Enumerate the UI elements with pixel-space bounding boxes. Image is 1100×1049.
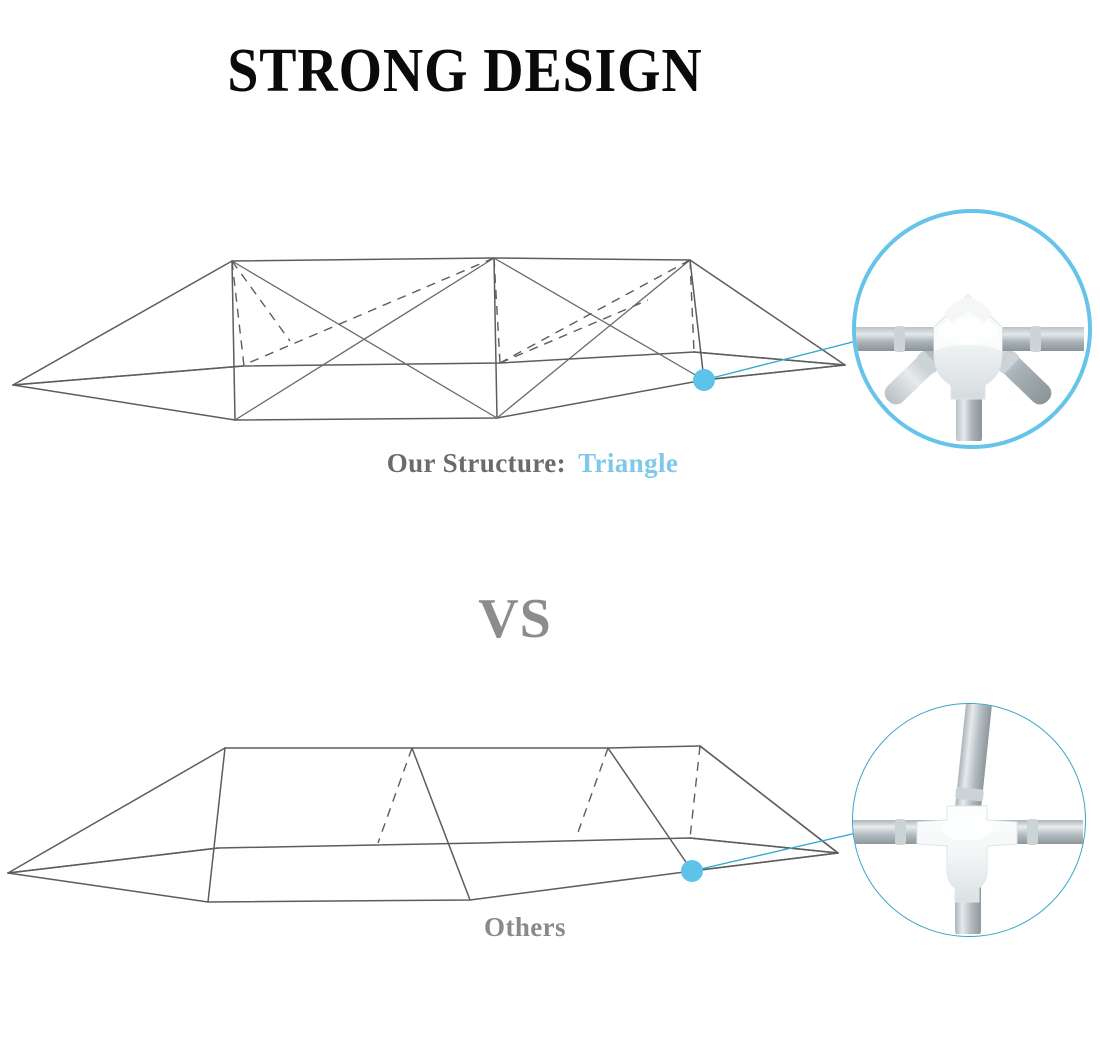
top-frame-brace-b2 (497, 260, 690, 418)
bottom-structure-caption: Others (0, 912, 1050, 943)
bottom-frame-hidden-leg-2 (378, 748, 412, 843)
top-frame-leg-1 (232, 261, 235, 420)
bottom-frame-leg-4 (700, 746, 838, 853)
page-title: STRONG DESIGN (47, 36, 884, 107)
bottom-frame-leg-3 (608, 748, 692, 871)
bottom-frame-leg-1 (208, 748, 225, 902)
top-structure-label: Our Structure: (387, 448, 566, 478)
top-frame-wireframe (13, 258, 845, 420)
top-frame-brace-a1 (232, 261, 497, 418)
bottom-frame-roof-edge-right-lower (692, 853, 838, 871)
connector-hub (934, 295, 1002, 399)
bottom-callout-leader (681, 828, 878, 882)
bottom-callout-dot (681, 860, 703, 882)
top-frame-roof-edge-right-lower (704, 365, 845, 380)
top-frame-hidden-brace-a1 (232, 261, 290, 341)
top-frame-hidden-brace-b2 (500, 300, 648, 363)
bottom-frame-roof-edge-left-front (8, 748, 225, 873)
top-frame-roof-edge-right-front (690, 260, 845, 365)
top-frame-hidden-leg-3 (690, 260, 694, 352)
connector-inset-cross (852, 703, 1086, 937)
bottom-frame-leg-2 (412, 748, 470, 900)
top-frame-back-rail (13, 352, 845, 385)
top-frame-roof-edge-left-back (13, 366, 243, 385)
vs-divider-label: VS (0, 587, 1030, 651)
bottom-frame-front-rail (8, 853, 838, 902)
four-way-connector-illustration (852, 703, 1083, 934)
top-frame-brace-b1 (494, 258, 704, 380)
bottom-frame-back-rail (8, 838, 838, 873)
top-frame-hidden-leg-1 (232, 261, 244, 366)
bottom-leader-line (692, 828, 878, 871)
top-frame-hidden-leg-2 (494, 258, 500, 363)
bottom-frame-roof-edge-right-back (690, 838, 838, 853)
top-structure-caption: Our Structure:Triangle (0, 448, 1065, 479)
bottom-frame-ridge (225, 746, 700, 748)
top-frame-hidden-brace-a2 (246, 258, 494, 364)
top-callout-dot (693, 369, 715, 391)
strong-design-infographic: STRONG DESIGN .wf { fill: none; stroke: … (0, 0, 1100, 1049)
top-frame-front-rail (13, 365, 845, 420)
bottom-frame-hidden-leg-4 (690, 746, 700, 838)
bottom-frame-roof-edge-right-front (700, 746, 838, 853)
top-frame-roof-edge-right-back (694, 352, 845, 365)
five-way-connector-illustration (852, 209, 1084, 441)
top-frame-hidden-brace-b1 (500, 260, 690, 363)
top-frame-brace-a2 (235, 258, 494, 420)
top-frame-leg-3 (690, 260, 704, 380)
top-structure-value: Triangle (578, 448, 678, 478)
top-frame-leg-2 (494, 258, 497, 418)
top-frame-ridge (232, 258, 690, 261)
connector-inset-triangle (852, 209, 1092, 449)
bottom-frame-roof-edge-left-back (8, 848, 218, 873)
bottom-frame-hidden-leg-3 (576, 748, 608, 838)
bottom-frame-wireframe (8, 746, 838, 902)
top-frame-roof-edge-left-front (13, 261, 232, 385)
